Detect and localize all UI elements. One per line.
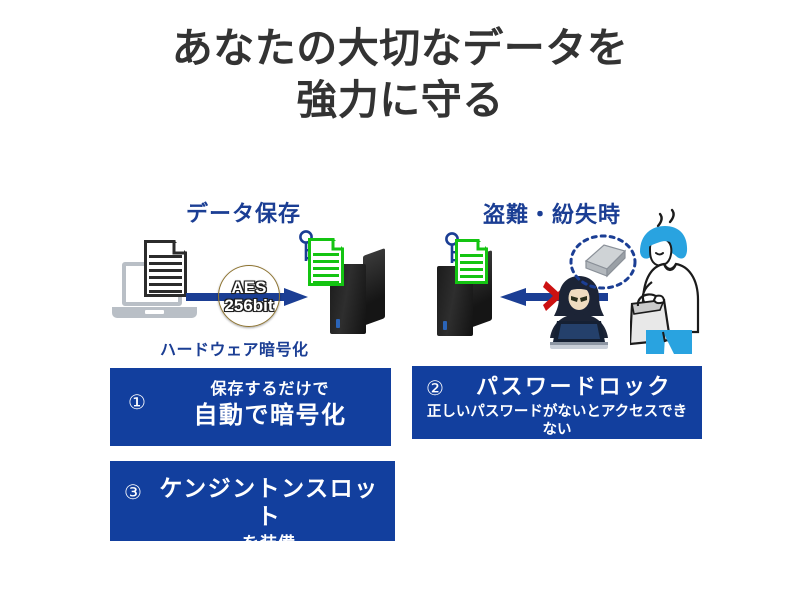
dotted-circle-icon — [568, 233, 638, 291]
page-title: あなたの大切なデータを 強力に守る — [0, 22, 800, 127]
aes-badge-line2: 256bit — [224, 297, 273, 314]
feature-panel-3-number: ③ — [124, 483, 142, 503]
hard-drive-side — [363, 248, 385, 326]
left-diagram-caption: データ保存 — [186, 196, 301, 228]
feature-panel-3-title: ケンジントンスロット — [150, 475, 388, 530]
encrypted-document-corner-fold — [308, 238, 344, 286]
hard-drive-led — [443, 321, 447, 330]
infographic-canvas: あなたの大切なデータを 強力に守る データ保存 AES 256bit — [0, 0, 800, 600]
right-diagram-caption: 盗難・紛失時 — [483, 197, 621, 229]
encrypted-document-corner-fold — [455, 239, 488, 284]
left-diagram-footer-label: ハードウェア暗号化 — [160, 336, 309, 360]
worried-person-with-bag-icon — [630, 208, 752, 356]
encrypted-document-icon — [308, 238, 344, 286]
feature-panel-2-text: パスワードロック 正しいパスワードがないとアクセスできない — [454, 374, 694, 439]
laptop-touchpad — [145, 310, 164, 314]
aes-badge-line1: AES — [232, 279, 267, 296]
page-title-line2: 強力に守る — [0, 74, 800, 126]
feature-panel-1-text: 保存するだけで 自動で暗号化 — [170, 380, 370, 431]
feature-panel-3-subtitle: を装備 — [150, 534, 388, 554]
feature-panel-1[interactable]: ① 保存するだけで 自動で暗号化 — [110, 368, 391, 446]
feature-panel-3-text: ケンジントンスロット を装備 — [150, 475, 388, 555]
feature-panel-2-subtitle: 正しいパスワードがないとアクセスできない — [420, 404, 694, 439]
feature-panel-2-title: パスワードロック — [454, 374, 694, 400]
feature-panel-1-subtitle: 保存するだけで — [170, 380, 370, 400]
document-icon — [144, 240, 187, 297]
document-corner-fold — [144, 240, 187, 297]
portable-hard-drive-icon — [586, 245, 625, 276]
page-title-line1: あなたの大切なデータを — [172, 25, 629, 71]
hard-drive-led — [336, 319, 340, 328]
feature-panel-2-number: ② — [426, 379, 444, 399]
feature-panel-1-title: 自動で暗号化 — [170, 402, 370, 431]
encrypted-document-icon — [455, 239, 488, 284]
feature-panel-3[interactable]: ③ ケンジントンスロット を装備 — [110, 461, 395, 541]
feature-panel-2[interactable]: ② パスワードロック 正しいパスワードがないとアクセスできない — [412, 366, 702, 439]
feature-panel-1-number: ① — [128, 393, 146, 413]
aes-256bit-badge: AES 256bit — [218, 265, 280, 327]
